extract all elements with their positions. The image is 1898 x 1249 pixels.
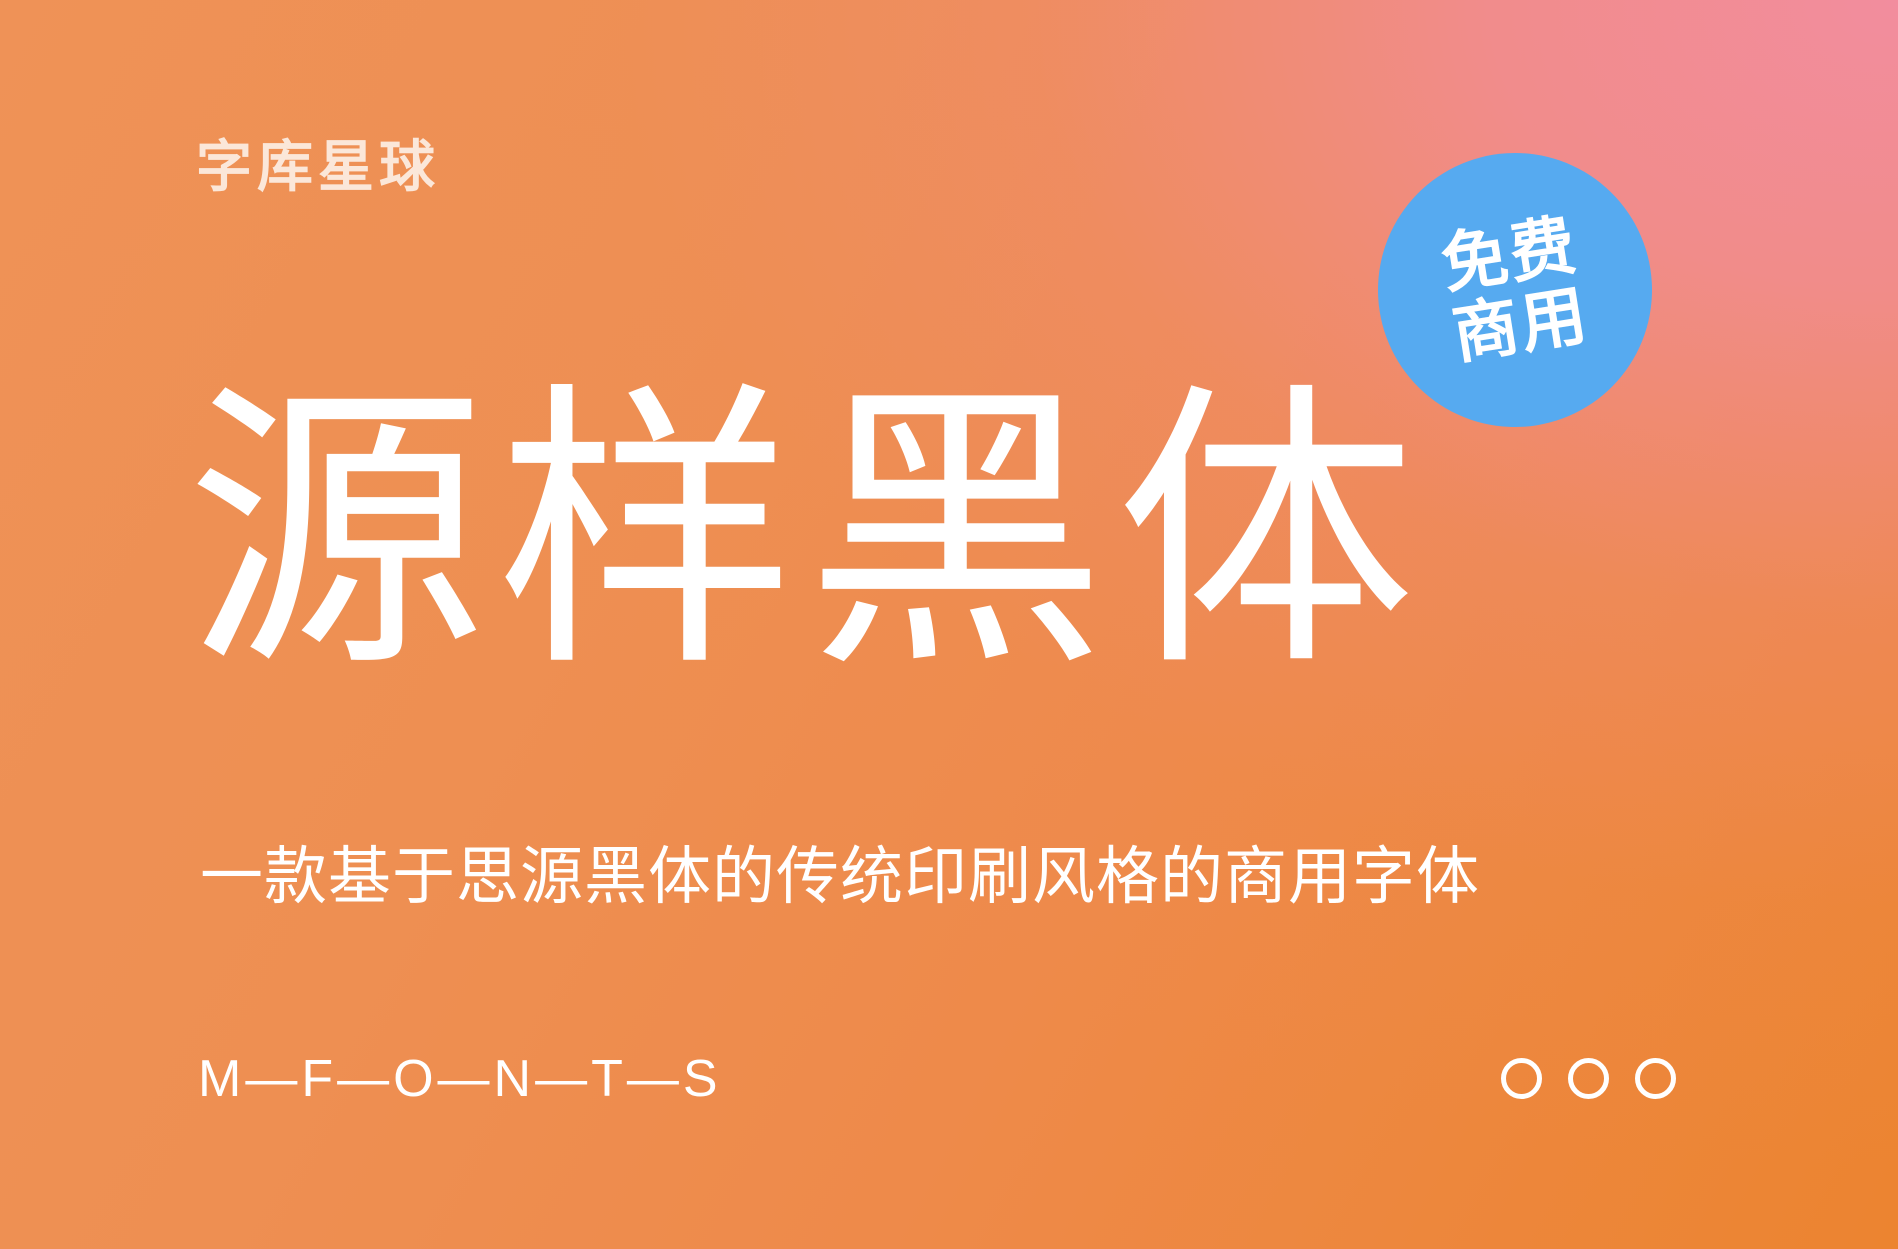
circle-icon-1 — [1501, 1058, 1542, 1099]
poster-canvas: 字库星球 免费 商用 源样黑体 一款基于思源黑体的传统印刷风格的商用字体 M—F… — [0, 0, 1898, 1249]
page-title: 源样黑体 — [186, 382, 1426, 682]
circle-icon-2 — [1568, 1058, 1609, 1099]
circle-icon-3 — [1635, 1058, 1676, 1099]
decorative-dots — [1501, 1058, 1676, 1099]
page-subtitle: 一款基于思源黑体的传统印刷风格的商用字体 — [200, 846, 1480, 909]
footer-wordmark: M—F—O—N—T—S — [198, 1053, 722, 1105]
brand-logo-text: 字库星球 — [196, 139, 440, 195]
